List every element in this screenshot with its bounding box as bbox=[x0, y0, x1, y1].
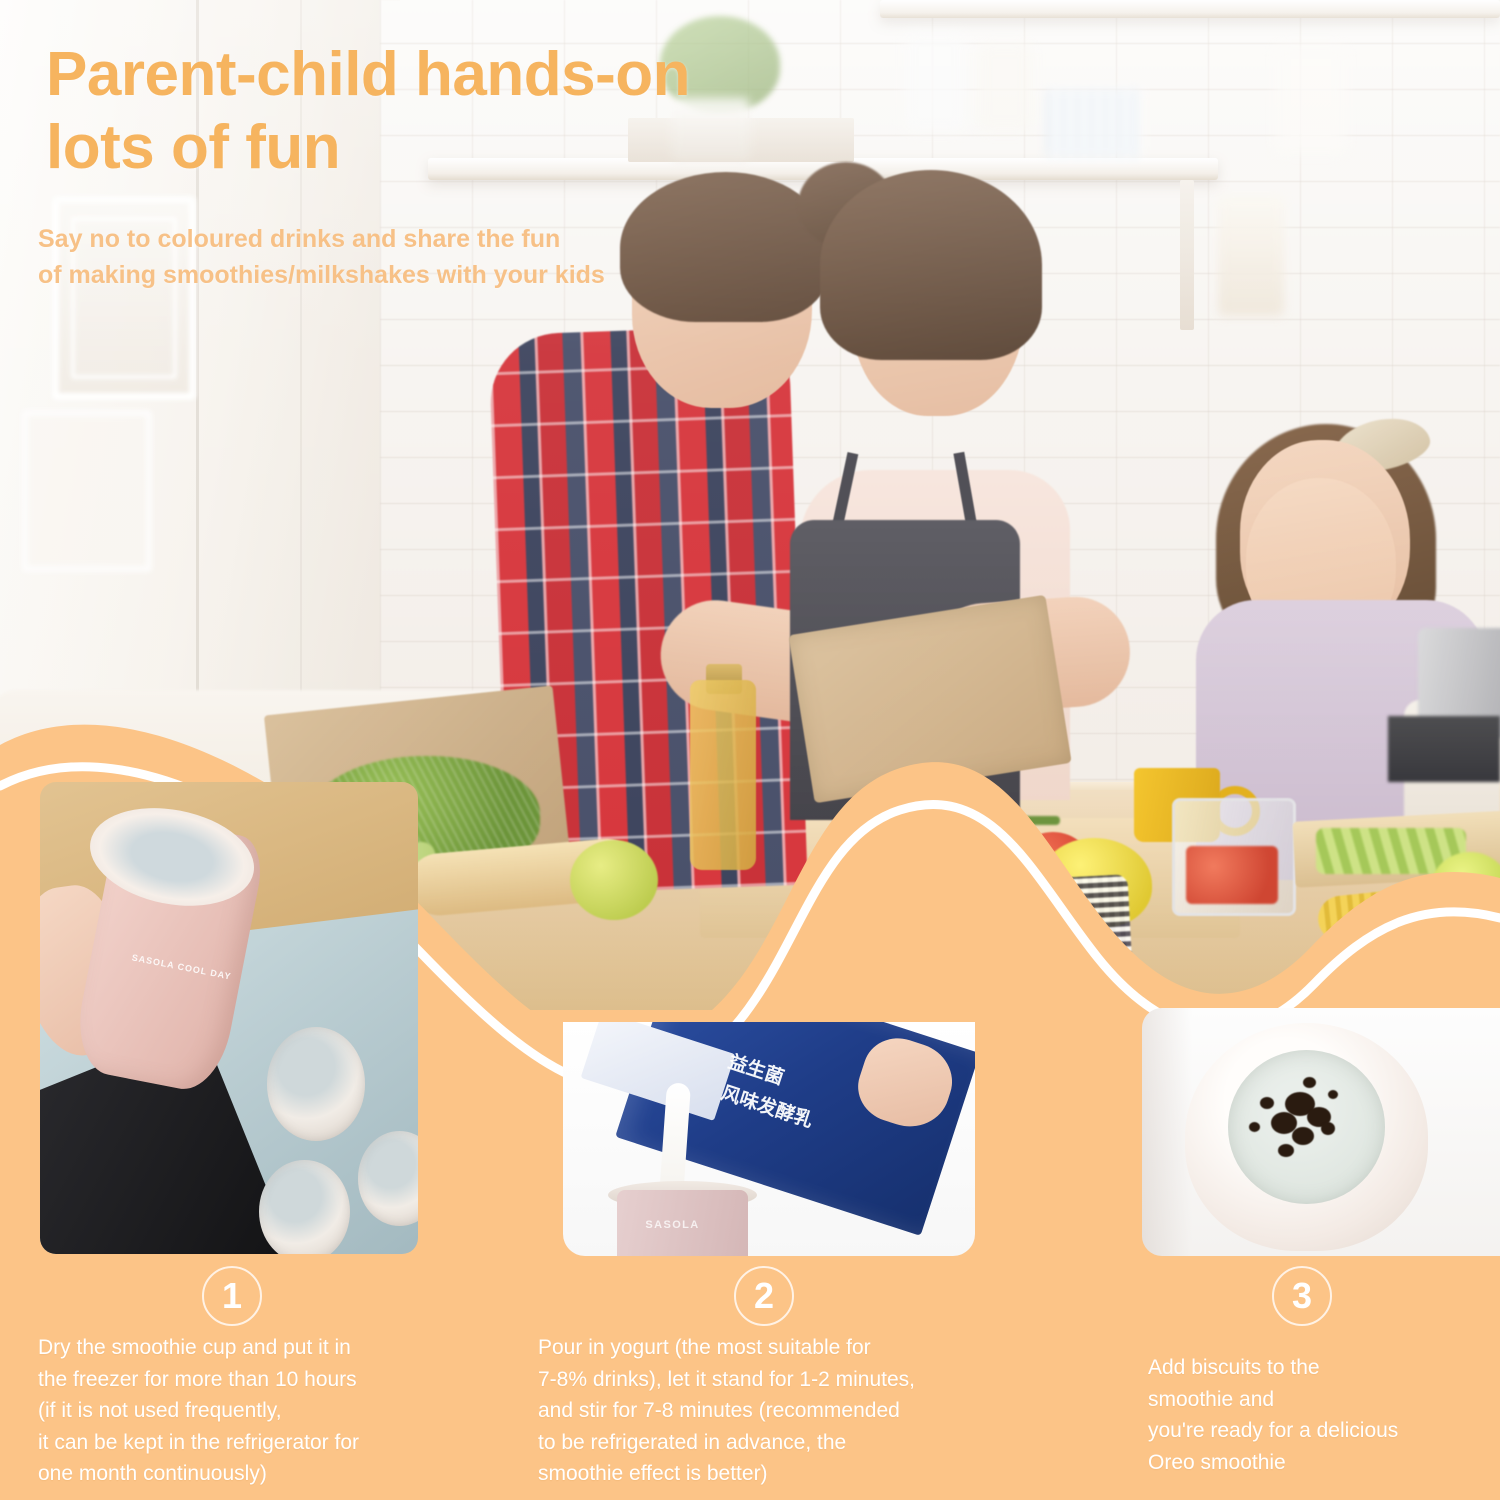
step-2-photo: 益生菌 风味发酵乳 SASOLA bbox=[563, 1022, 975, 1256]
frozen-cup-ring-1 bbox=[267, 1027, 365, 1140]
frozen-cup-ring-3 bbox=[259, 1160, 350, 1254]
page-subtitle-line2: of making smoothies/milkshakes with your… bbox=[38, 258, 898, 294]
oreo-crumbs-10 bbox=[1328, 1090, 1338, 1099]
page-title: Parent-child hands-on lots of fun bbox=[46, 38, 946, 184]
step-3-photo bbox=[1142, 1008, 1500, 1256]
step-2-caption: Pour in yogurt (the most suitable for 7-… bbox=[538, 1332, 978, 1490]
cup-brand-label-2: SASOLA bbox=[645, 1219, 699, 1231]
step-number-2: 2 bbox=[734, 1266, 794, 1326]
page-title-line1: Parent-child hands-on bbox=[46, 38, 946, 111]
step-1-caption: Dry the smoothie cup and put it in the f… bbox=[38, 1332, 458, 1490]
step-number-1: 1 bbox=[202, 1266, 262, 1326]
page-title-line2: lots of fun bbox=[46, 111, 946, 184]
page-subtitle-line1: Say no to coloured drinks and share the … bbox=[38, 222, 898, 258]
step-number-3: 3 bbox=[1272, 1266, 1332, 1326]
page-subtitle: Say no to coloured drinks and share the … bbox=[38, 222, 898, 293]
oreo-crumbs-6 bbox=[1321, 1122, 1335, 1135]
step-1-photo: SASOLA COOL DAY bbox=[40, 782, 418, 1254]
step-3-caption: Add biscuits to the smoothie and you're … bbox=[1148, 1352, 1498, 1478]
product-infographic-page: Parent-child hands-on lots of fun Say no… bbox=[0, 0, 1500, 1500]
